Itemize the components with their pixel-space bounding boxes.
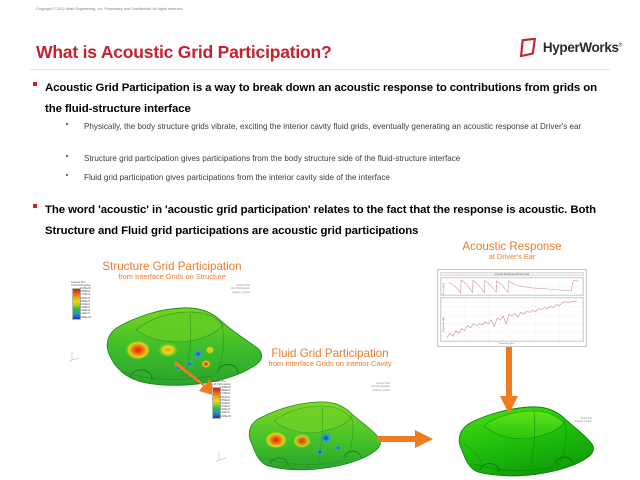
bullet-dot-icon: [66, 120, 84, 125]
response-car-solid-model: [448, 392, 598, 480]
structure-participation-label: Structure Grid Participation from Interf…: [58, 260, 286, 281]
fluid-contour-legend-ticks: 1.000E+008.889E-017.778E-016.667E-015.55…: [220, 386, 231, 418]
structure-participation-subtitle: from Interface Grids on Structure: [58, 273, 286, 281]
bullet-text: Fluid grid participation gives participa…: [84, 171, 390, 185]
bullet-dot-icon: [66, 152, 84, 157]
hyperworks-logo: HyperWorks®: [520, 38, 622, 57]
bullet-square-icon: [33, 78, 45, 86]
fluid-axis-triad-icon: [215, 448, 229, 462]
page-title: What is Acoustic Grid Participation?: [36, 42, 332, 63]
brand-name: HyperWorks®: [543, 40, 622, 55]
bullet-text: Structure grid participation gives parti…: [84, 152, 460, 166]
fluid-to-response-arrow: [377, 428, 437, 450]
title-divider: [30, 69, 610, 70]
bullet-square-icon: [33, 200, 45, 208]
slide: Copyright © 2012 Altair Engineering, Inc…: [0, 0, 640, 480]
fluid-cavity-contour-model: [238, 388, 383, 480]
bullet-item-2: Physically, the body structure grids vib…: [66, 120, 618, 134]
structure-contour-legend-ticks: 1.000E+008.889E-017.778E-016.667E-015.55…: [80, 287, 91, 319]
structure-contour-legend-title: Contour PlotGrid Participation: [71, 281, 91, 287]
response-point-arrow: [498, 344, 520, 416]
plot-panel-phase: Phase (deg): [440, 277, 584, 296]
plot-panel-magnitude: Magnitude (dB) Frequency (Hz): [440, 297, 584, 342]
bullet-item-4: Fluid grid participation gives participa…: [66, 171, 618, 185]
magnitude-axis-label: Magnitude (dB): [443, 317, 445, 332]
plot-title: Acoustic Response at Driver's Ear: [495, 273, 530, 277]
phase-axis-label: Phase (deg): [443, 283, 445, 295]
bullet-item-1: Acoustic Grid Participation is a way to …: [33, 78, 613, 120]
structure-axis-triad-icon: [68, 348, 82, 362]
brand-trademark: ®: [619, 43, 622, 49]
diagram-area: Acoustic Response at Driver's Ear Struct…: [0, 232, 640, 480]
acoustic-response-subtitle: at Driver's Ear: [437, 253, 587, 261]
copyright-notice: Copyright © 2012 Altair Engineering, Inc…: [36, 8, 184, 12]
frequency-axis-label: Frequency (Hz): [499, 343, 514, 345]
plot-title-bar: Acoustic Response at Driver's Ear: [440, 272, 584, 276]
acoustic-response-label: Acoustic Response at Driver's Ear: [437, 240, 587, 261]
bullet-text: Acoustic Grid Participation is a way to …: [45, 78, 613, 120]
hyperworks-diamond-icon: [520, 38, 538, 57]
brand-name-text: HyperWorks: [543, 40, 619, 55]
acoustic-response-plot-window[interactable]: Acoustic Response at Driver's Ear Pha: [437, 269, 587, 347]
fluid-contour-legend-title: Contour PlotGrid Participation: [211, 380, 231, 386]
bullet-dot-icon: [66, 171, 84, 176]
bullet-item-3: Structure grid participation gives parti…: [66, 152, 618, 166]
bullet-text: Physically, the body structure grids vib…: [84, 120, 581, 134]
